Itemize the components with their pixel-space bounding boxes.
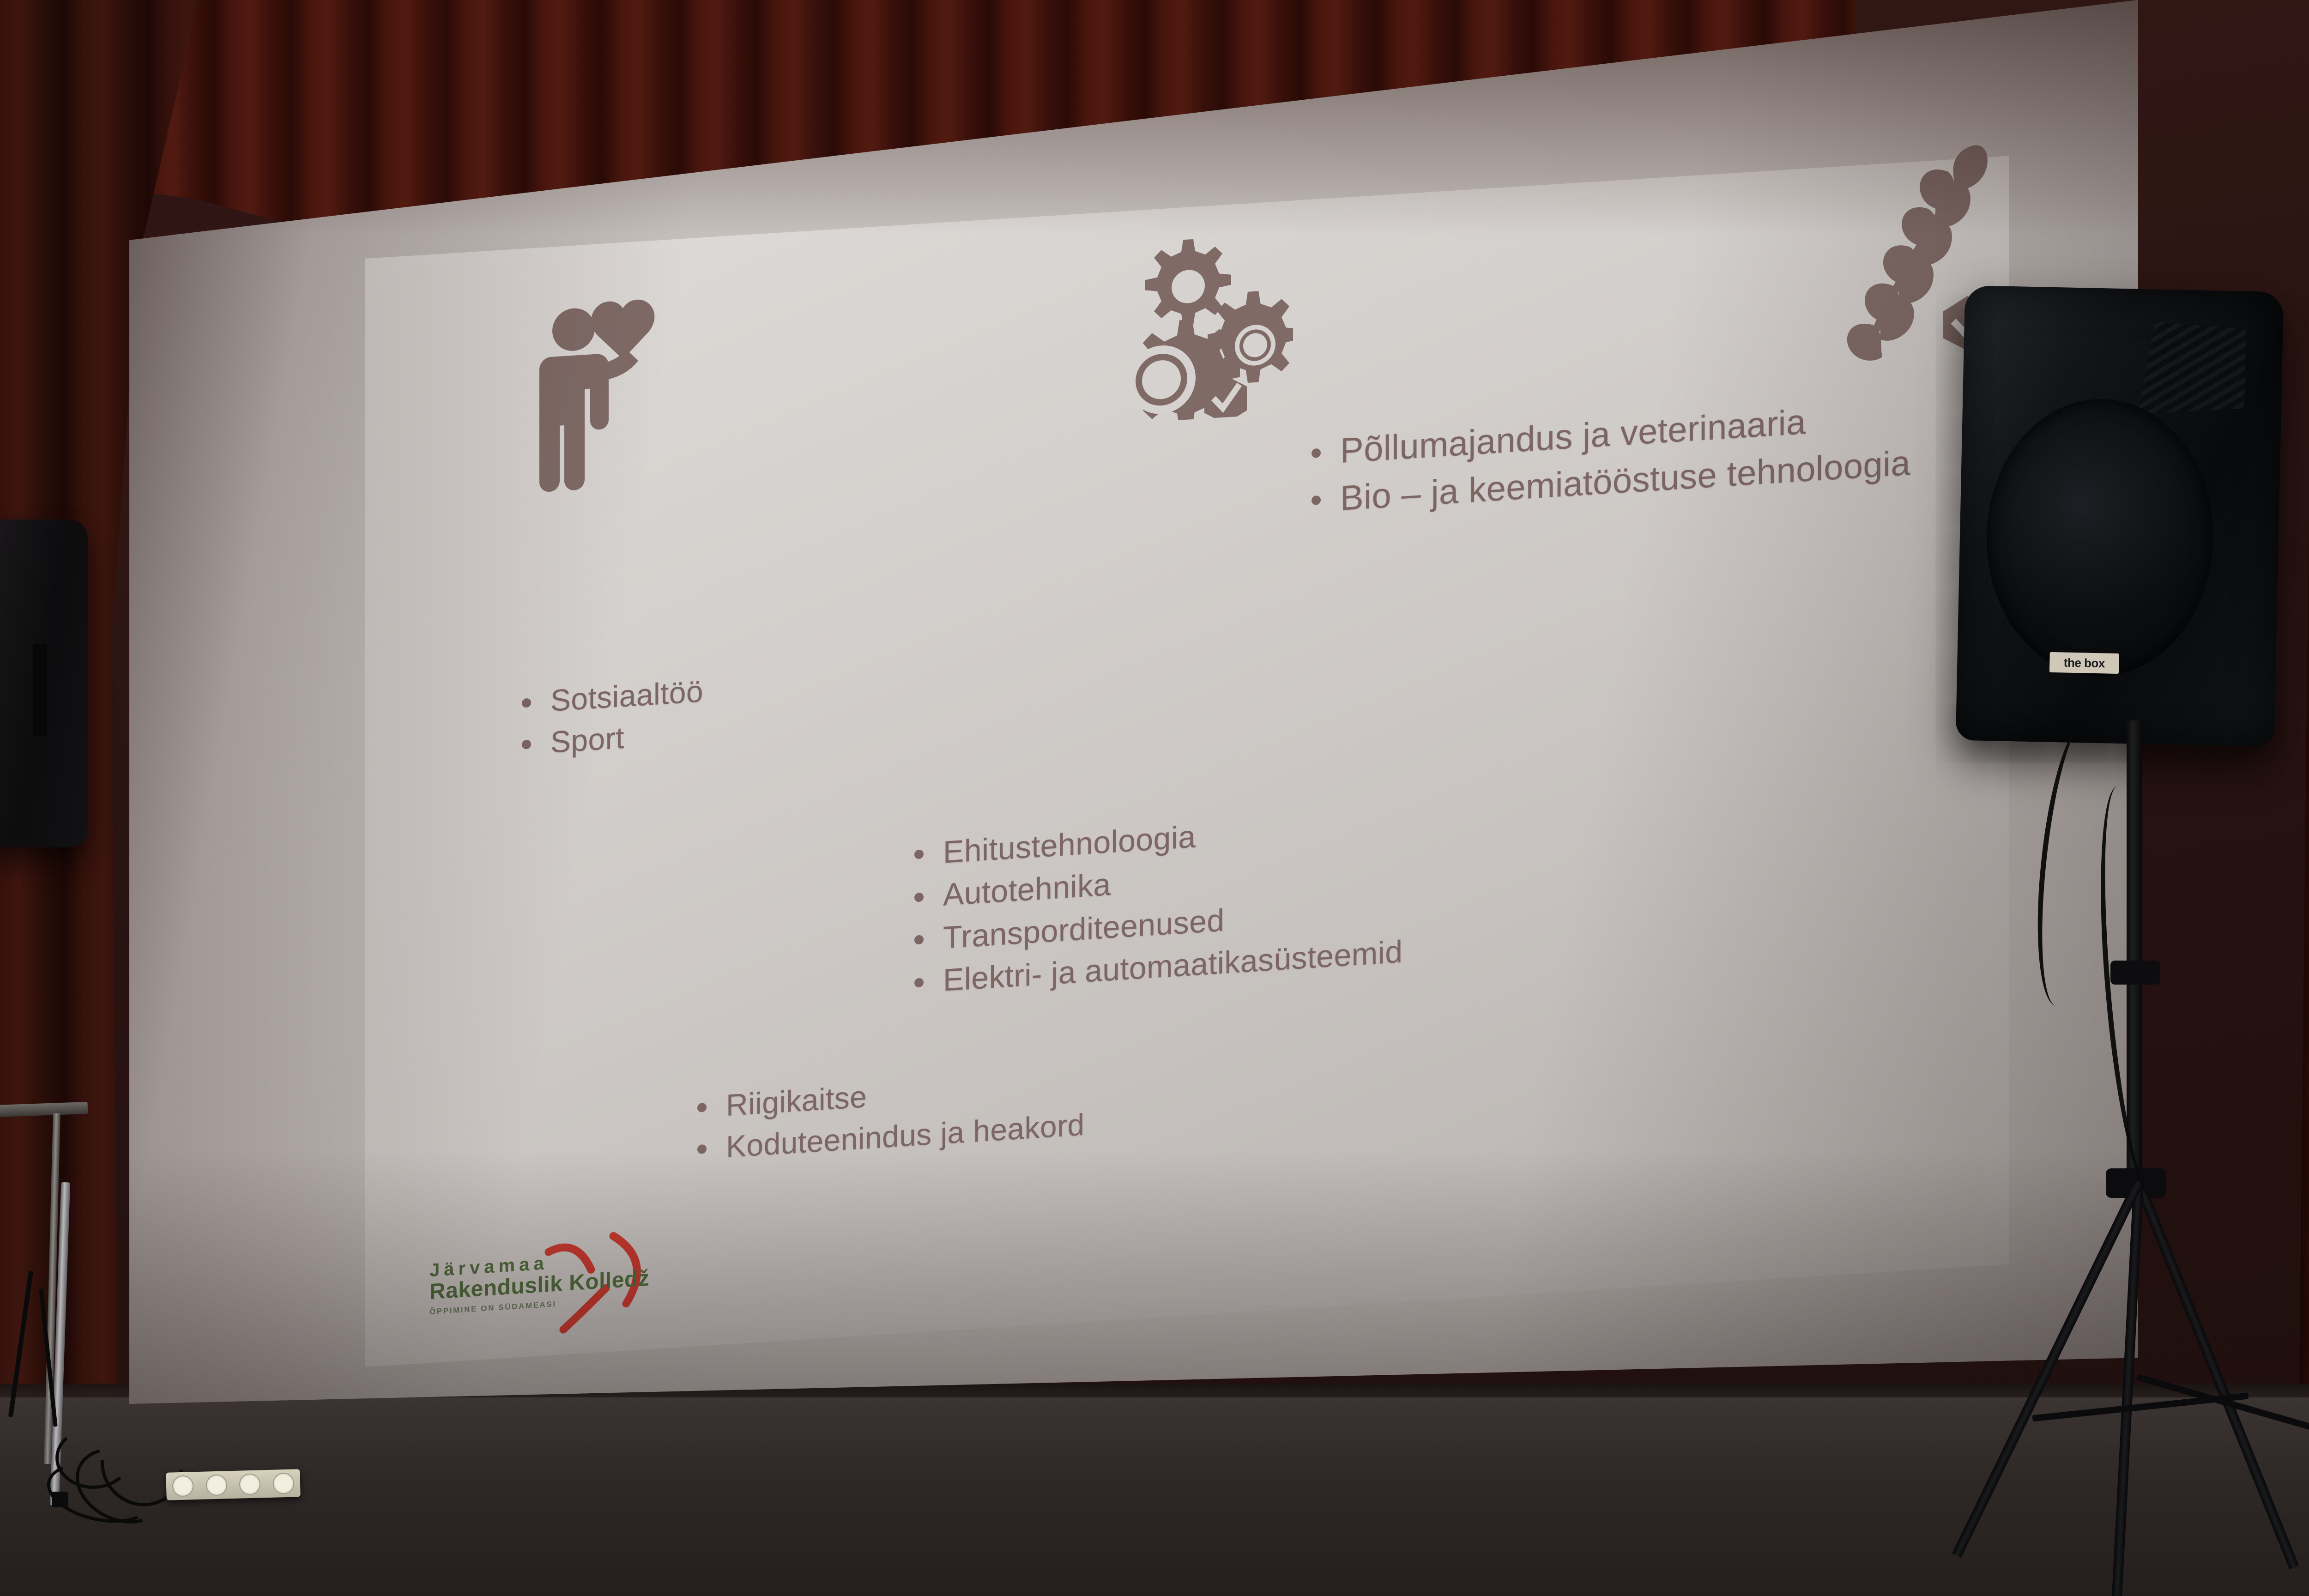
screen-lighting-gradient [69,0,2175,1473]
tripod-leg [2134,1180,2299,1570]
left-speaker-port [33,644,47,737]
power-socket [206,1474,227,1496]
power-socket [172,1475,194,1497]
power-socket [239,1473,261,1495]
tripod-leg [2112,1182,2144,1596]
power-socket [272,1473,294,1494]
left-speaker [0,520,88,847]
speaker-brand-label: the box [2049,652,2119,674]
right-speaker: the box [1956,285,2284,747]
mic-stand-cables [5,1270,143,1482]
power-strip[interactable] [166,1469,300,1500]
speaker-horn [2138,321,2246,416]
projection-screen: Sotsiaaltöö Sport Põllumajandus ja veter [69,0,2175,1473]
speaker-cone [1984,397,2216,678]
photo-scene: Sotsiaaltöö Sport Põllumajandus ja veter [0,0,2309,1596]
tripod-leg [1952,1180,2143,1558]
